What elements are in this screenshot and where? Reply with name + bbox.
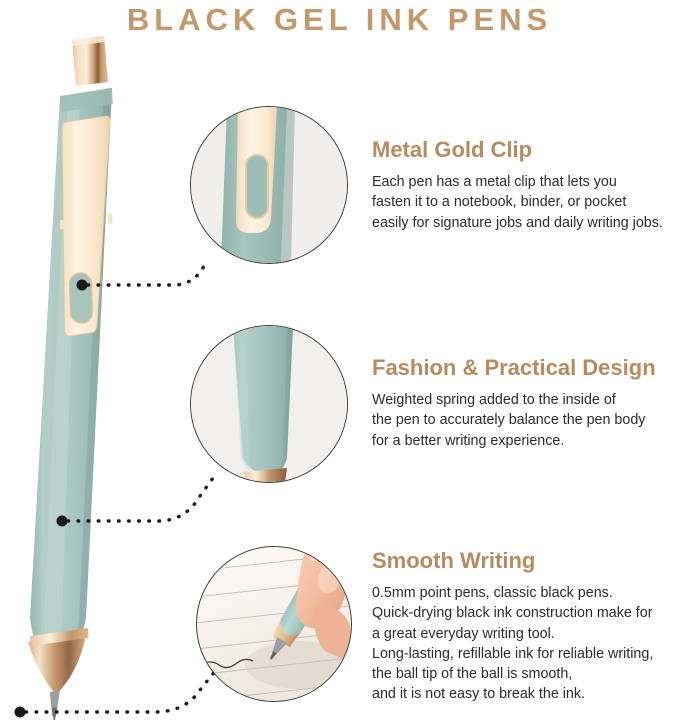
- connector-anchor-dot-3: [15, 707, 26, 718]
- connector-line-1: [77, 262, 207, 291]
- callout-body-metal-gold-clip: Each pen has a metal clip that lets you …: [372, 172, 672, 233]
- barrel-closeup-svg: [191, 326, 347, 482]
- callout-body-fashion-practical-design: Weighted spring added to the inside of t…: [372, 390, 672, 451]
- callout-body-smooth-writing: 0.5mm point pens, classic black pens. Qu…: [372, 583, 672, 705]
- callout-circle-smooth-writing: [196, 546, 352, 702]
- callout-text-metal-gold-clip: Metal Gold Clip Each pen has a metal cli…: [372, 137, 672, 233]
- callout-text-fashion-practical-design: Fashion & Practical Design Weighted spri…: [372, 355, 672, 451]
- callout-heading-fashion-practical-design: Fashion & Practical Design: [372, 355, 672, 381]
- connector-anchor-dot-2: [57, 516, 68, 527]
- clip-oval-cutout-zoom: [246, 155, 268, 218]
- callout-circle-metal-gold-clip: [190, 106, 348, 264]
- connector-line-2: [57, 478, 214, 527]
- connector-line-3: [15, 670, 217, 718]
- writing-photo-svg: [197, 547, 351, 701]
- callout-circle-fashion-practical-design: [190, 325, 348, 483]
- callout-text-smooth-writing: Smooth Writing 0.5mm point pens, classic…: [372, 548, 672, 705]
- callout-heading-smooth-writing: Smooth Writing: [372, 548, 672, 574]
- clip-closeup-svg: [191, 107, 347, 263]
- callout-heading-metal-gold-clip: Metal Gold Clip: [372, 137, 672, 163]
- connector-anchor-dot-1: [77, 280, 88, 291]
